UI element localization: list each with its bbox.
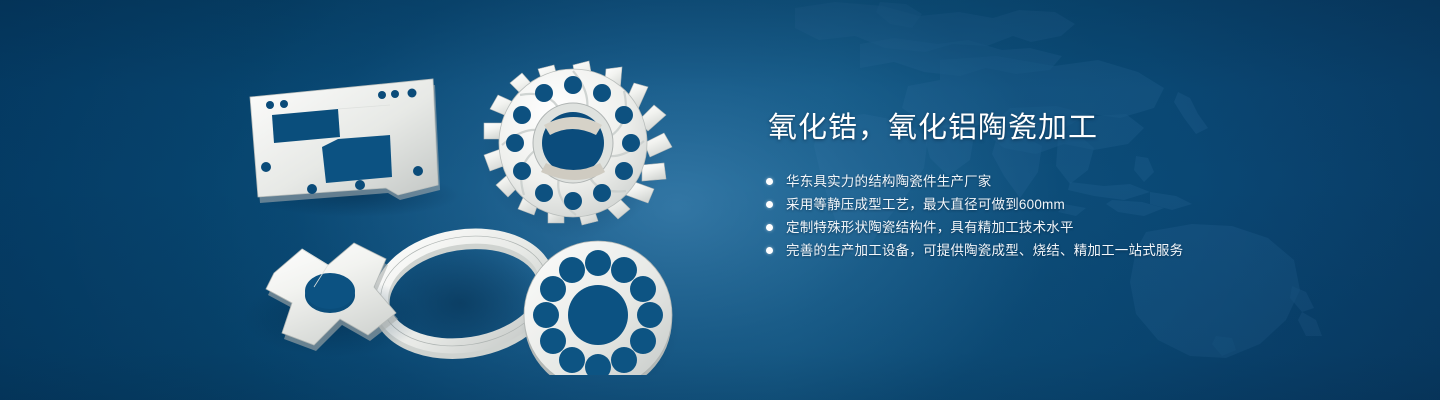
banner-headline: 氧化锆，氧化铝陶瓷加工 (768, 108, 1386, 148)
list-item: 采用等静压成型工艺，最大直径可做到600mm (766, 193, 1386, 216)
bullet-dot-icon (766, 247, 773, 254)
list-item-label: 定制特殊形状陶瓷结构件，具有精加工技术水平 (786, 220, 1074, 235)
list-item-label: 华东具实力的结构陶瓷件生产厂家 (786, 174, 992, 189)
list-item: 定制特殊形状陶瓷结构件，具有精加工技术水平 (766, 216, 1386, 239)
ceramic-impeller-part (481, 61, 672, 239)
hero-banner: 氧化锆，氧化铝陶瓷加工 华东具实力的结构陶瓷件生产厂家 采用等静压成型工艺，最大… (0, 0, 1440, 400)
bullet-dot-icon (766, 178, 773, 185)
ceramic-plate-part (250, 79, 460, 217)
bullet-dot-icon (766, 201, 773, 208)
bullet-dot-icon (766, 224, 773, 231)
banner-copy: 氧化锆，氧化铝陶瓷加工 华东具实力的结构陶瓷件生产厂家 采用等静压成型工艺，最大… (766, 108, 1386, 262)
list-item: 华东具实力的结构陶瓷件生产厂家 (766, 170, 1386, 193)
list-item-label: 完善的生产加工设备，可提供陶瓷成型、烧结、精加工一站式服务 (786, 243, 1183, 258)
banner-feature-list: 华东具实力的结构陶瓷件生产厂家 采用等静压成型工艺，最大直径可做到600mm 定… (766, 170, 1386, 262)
list-item-label: 采用等静压成型工艺，最大直径可做到600mm (786, 197, 1065, 212)
ceramic-products-image (230, 45, 710, 375)
list-item: 完善的生产加工设备，可提供陶瓷成型、烧结、精加工一站式服务 (766, 239, 1386, 262)
